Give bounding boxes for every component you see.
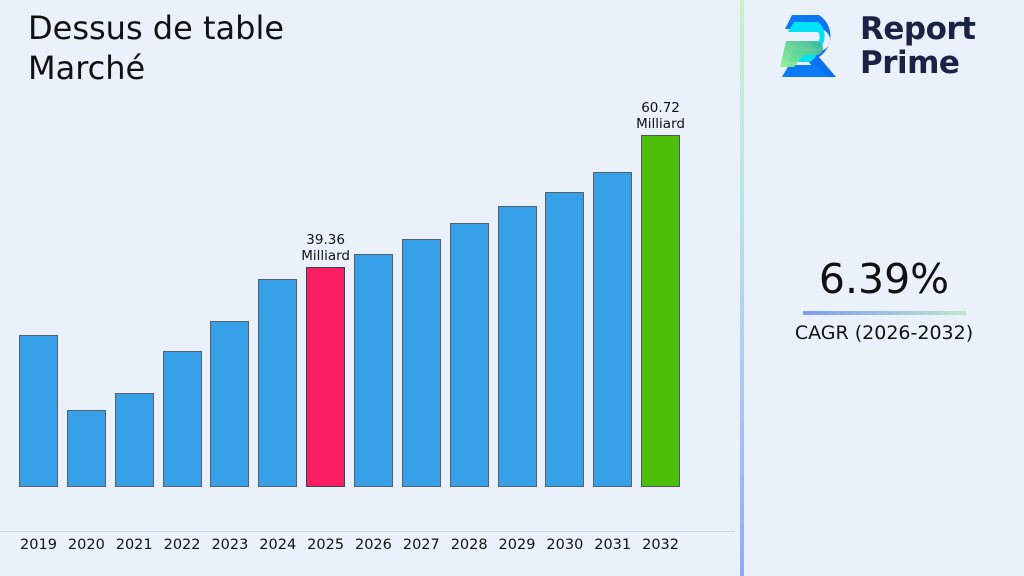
bar-2028 (450, 223, 489, 487)
bar-2030 (545, 192, 584, 487)
bar-2027 (402, 239, 441, 487)
x-axis-tick-2021: 2021 (109, 536, 159, 554)
cagr-divider-rule (803, 311, 966, 315)
x-axis-tick-2019: 2019 (14, 536, 64, 554)
bar-2021 (115, 393, 154, 487)
bar-2023 (210, 321, 249, 487)
cagr-caption: CAGR (2026-2032) (744, 321, 1024, 345)
chart-panel: Dessus de table Marché 20192020202120222… (0, 0, 741, 576)
brand-logo: Report Prime (780, 11, 976, 81)
bar-2020 (67, 410, 106, 487)
x-axis-tick-2022: 2022 (157, 536, 207, 554)
bar-value-label-2032: 60.72 Milliard (636, 100, 685, 132)
brand-name: Report Prime (860, 12, 976, 80)
chart-screenshot: Dessus de table Marché 20192020202120222… (0, 0, 1024, 576)
report-prime-logo-icon (780, 11, 846, 81)
x-axis-line (0, 531, 735, 532)
x-axis-tick-2024: 2024 (253, 536, 303, 554)
x-axis-tick-2031: 2031 (588, 536, 638, 554)
x-axis-tick-2020: 2020 (61, 536, 111, 554)
x-axis-tick-2028: 2028 (444, 536, 494, 554)
bar-2025: 39.36 Milliard (306, 267, 345, 487)
bar-chart-plot-area: 20192020202120222023202439.36 Milliard20… (0, 0, 741, 532)
cagr-block: 6.39% CAGR (2026-2032) (744, 255, 1024, 345)
x-axis-tick-2025: 2025 (301, 536, 351, 554)
cagr-value: 6.39% (744, 255, 1024, 303)
bar-2029 (498, 206, 537, 487)
bar-2026 (354, 254, 393, 487)
x-axis-tick-2026: 2026 (348, 536, 398, 554)
bar-2022 (163, 351, 202, 487)
bar-value-label-2025: 39.36 Milliard (301, 232, 350, 264)
bar-2032: 60.72 Milliard (641, 135, 680, 487)
bar-2019 (19, 335, 58, 487)
bar-2024 (258, 279, 297, 487)
x-axis-tick-2032: 2032 (636, 536, 686, 554)
x-axis-tick-2030: 2030 (540, 536, 590, 554)
bar-2031 (593, 172, 632, 487)
x-axis-tick-2029: 2029 (492, 536, 542, 554)
x-axis-tick-2023: 2023 (205, 536, 255, 554)
brand-panel: Report Prime 6.39% CAGR (2026-2032) (744, 0, 1024, 576)
x-axis-tick-2027: 2027 (396, 536, 446, 554)
